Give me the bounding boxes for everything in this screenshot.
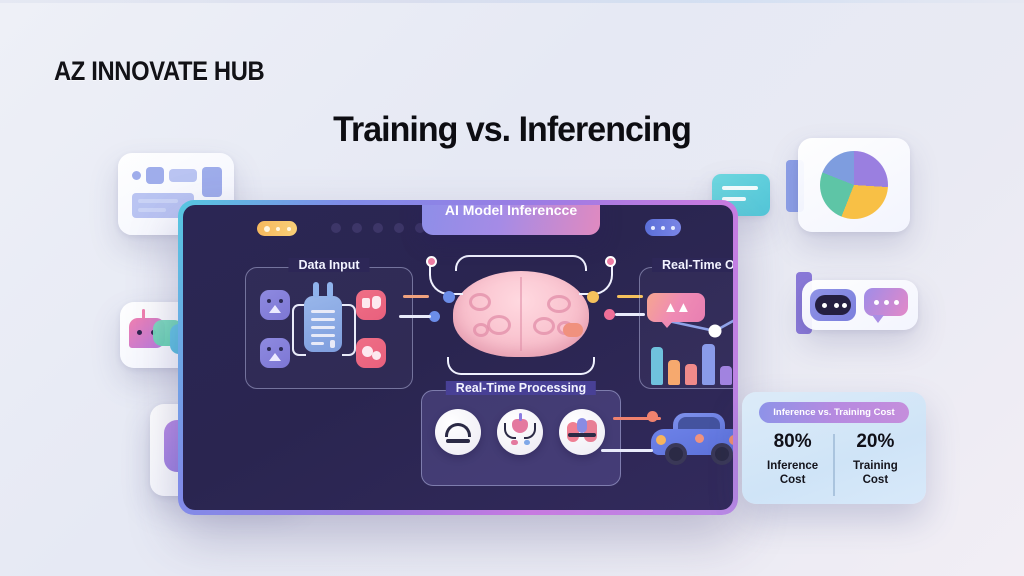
car-wheel	[665, 443, 687, 465]
wireframe-block	[146, 167, 164, 184]
stat-inference-label: Inference Cost	[752, 459, 833, 488]
neural-node-salmon	[563, 323, 583, 337]
media-glyph	[372, 296, 381, 309]
panel-data-input-label: Data Input	[288, 258, 369, 272]
top-accent-line	[0, 0, 1024, 3]
robot-dot-glyph	[511, 440, 518, 445]
car-wheel	[711, 443, 733, 465]
car-headlight	[656, 435, 666, 445]
slide-canvas: AZ INNOVATE HUB Training vs. Inferencing	[0, 0, 1024, 576]
output-chart[interactable]: ▲▲	[645, 291, 733, 387]
data-input-shapes-icon	[356, 338, 386, 368]
chat-dot	[884, 300, 889, 305]
car-taillight	[729, 435, 733, 445]
stat-training: 20% Training Cost	[835, 432, 916, 498]
stat-inference-value: 80%	[752, 432, 833, 453]
connector-bracket-right	[342, 304, 356, 356]
processing-device-icon	[559, 409, 605, 455]
stat-training-label: Training Cost	[835, 459, 916, 488]
robot-eye	[834, 303, 839, 308]
neural-node-amber	[587, 291, 599, 303]
data-input-user-icon	[260, 290, 290, 320]
wireframe-text-line	[138, 208, 166, 212]
panel-real-time-processing-label: Real-Time Processing	[446, 381, 596, 395]
chart-bar	[651, 347, 663, 385]
speech-line	[722, 186, 758, 190]
brain-module	[421, 253, 621, 378]
processing-icons	[435, 409, 605, 455]
robot-antenna-glyph	[519, 413, 522, 421]
neural-connector	[455, 255, 587, 271]
chart-bars	[651, 323, 733, 385]
server-antenna	[313, 282, 319, 298]
robot-wire-glyph	[504, 423, 516, 439]
chat-dot	[874, 300, 879, 305]
stat-label-line2: Cost	[780, 474, 806, 486]
brain-gyrus	[547, 295, 571, 313]
neural-line	[399, 315, 431, 318]
chart-bar	[668, 360, 680, 385]
brain-gyrus	[469, 293, 491, 311]
processing-robot-icon	[497, 409, 543, 455]
face-brow	[445, 423, 471, 437]
data-input-user-icon	[260, 338, 290, 368]
processing-face-icon	[435, 409, 481, 455]
neural-node-blue	[443, 291, 455, 303]
stat-training-value: 20%	[835, 432, 916, 453]
person-glyph	[266, 299, 284, 313]
person-glyph	[266, 347, 284, 361]
connector-dot	[647, 411, 658, 422]
ai-model-badge-label: AI Model Inferencce	[445, 205, 577, 220]
stat-label-line2: Cost	[863, 474, 889, 486]
server-indicator	[330, 340, 335, 348]
server-line	[311, 334, 335, 337]
neural-connector	[447, 357, 595, 375]
face-mouth	[446, 439, 470, 443]
robot-eye	[842, 303, 847, 308]
robot-wire-glyph	[524, 423, 536, 439]
car-icon	[651, 413, 733, 465]
brain-gyrus	[473, 323, 489, 337]
chart-bar	[702, 344, 714, 385]
stat-label-line1: Inference	[767, 460, 818, 472]
wireframe-bar	[169, 169, 197, 182]
neural-node-pink	[605, 256, 616, 267]
chart-bar	[720, 366, 732, 385]
device-bar	[568, 433, 596, 437]
ai-model-badge[interactable]: AI Model Inferencce	[422, 205, 600, 235]
data-input-media-icon	[356, 290, 386, 320]
brand-logo-text: AZ INNOVATE HUB	[54, 56, 264, 87]
neural-node-pink	[604, 309, 615, 320]
chat-dot	[894, 300, 899, 305]
server-line	[311, 310, 335, 313]
stats-card[interactable]: Inference vs. Training Cost 80% Inferenc…	[742, 392, 926, 504]
data-server-icon	[304, 296, 342, 352]
diagram-panel: Data Input	[183, 205, 733, 510]
pie-chart-card[interactable]	[798, 138, 910, 232]
pie-chart-icon	[820, 151, 888, 219]
robot-dot-glyph	[524, 440, 530, 445]
robot-chat-card[interactable]	[802, 280, 918, 330]
server-line	[311, 318, 335, 321]
server-line	[311, 342, 324, 345]
server-line	[311, 326, 335, 329]
chart-tooltip-chip[interactable]: ▲▲	[647, 293, 705, 322]
chart-tooltip-glyph: ▲▲	[663, 299, 689, 316]
stats-card-title: Inference vs. Training Cost	[759, 402, 909, 423]
brain-icon	[453, 271, 589, 357]
wireframe-panel	[202, 167, 222, 197]
robot-eye	[822, 303, 827, 308]
stat-inference: 80% Inference Cost	[752, 432, 833, 498]
brain-gyrus	[487, 315, 511, 335]
brain-gyrus	[533, 317, 555, 335]
media-glyph	[362, 298, 370, 308]
panel-real-time-output-label: Real-Time Output	[652, 258, 733, 272]
server-antenna	[327, 282, 333, 298]
chart-bar	[685, 364, 697, 385]
connector-line-to-car	[601, 449, 653, 452]
chat-bubble-pink-eye	[137, 330, 142, 335]
car-accent	[695, 434, 704, 443]
stats-row: 80% Inference Cost 20% Training Cost	[752, 432, 916, 498]
wireframe-dot	[132, 171, 141, 180]
shape-glyph	[372, 351, 381, 360]
stat-label-line1: Training	[853, 460, 898, 472]
window-controls-pill-icon[interactable]	[257, 221, 297, 236]
wireframe-text-line	[138, 199, 178, 203]
chat-bubble-pink-antenna	[142, 309, 145, 319]
neural-node-pink	[426, 256, 437, 267]
panel-data-input[interactable]: Data Input	[245, 267, 413, 389]
diagram-panel-frame: Data Input	[178, 200, 738, 515]
chat-bubble-tail	[872, 315, 884, 323]
neural-line	[403, 295, 429, 298]
toolbar-chip-icon[interactable]	[645, 219, 681, 236]
device-glyph	[577, 418, 587, 433]
